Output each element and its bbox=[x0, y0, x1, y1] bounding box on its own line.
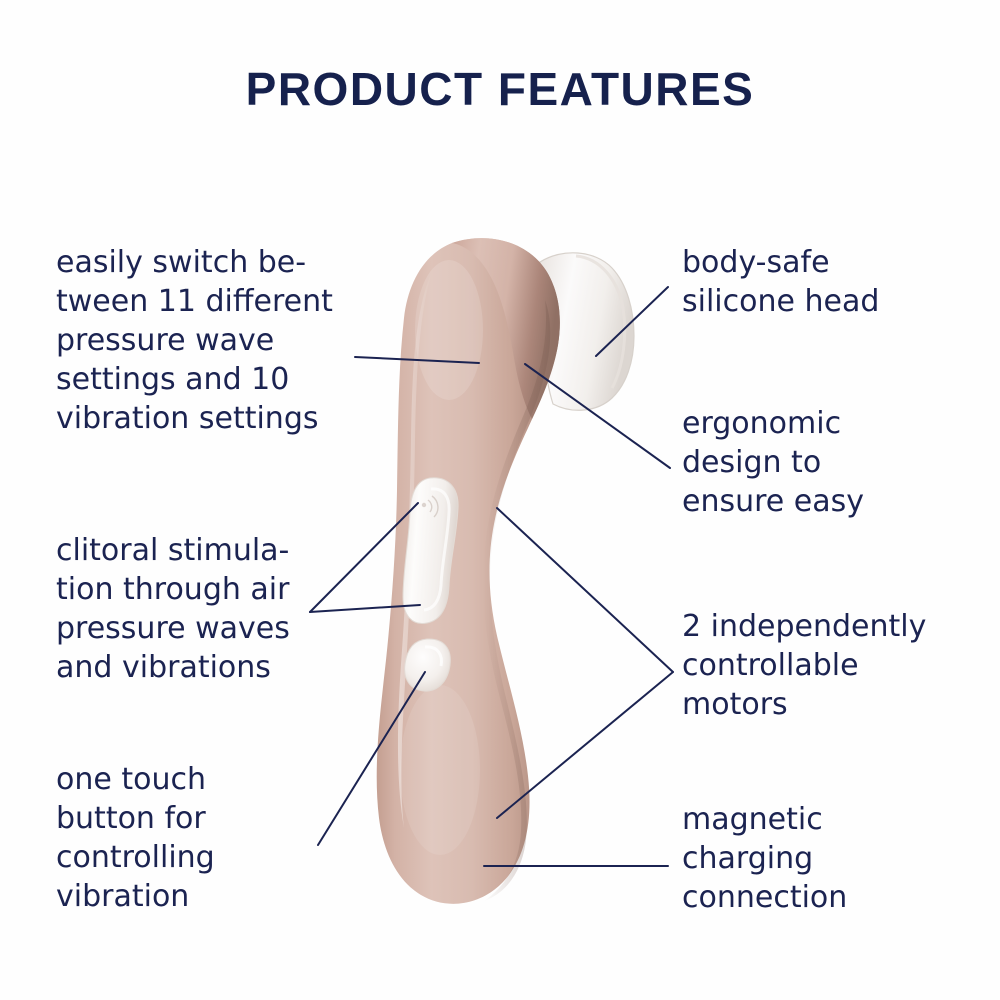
callout-one-touch-button: one touch button for controlling vibrati… bbox=[56, 760, 326, 916]
product-features-page: PRODUCT FEATURES bbox=[0, 0, 1000, 1000]
callout-settings: easily switch be- tween 11 different pre… bbox=[56, 243, 366, 438]
callout-silicone-head: body-safe silicone head bbox=[682, 243, 982, 321]
callout-motors: 2 independently controllable motors bbox=[682, 607, 982, 724]
callout-magnetic-charging: magnetic charging connection bbox=[682, 800, 982, 917]
callout-clitoral-stimulation: clitoral stimula- tion through air press… bbox=[56, 531, 356, 687]
callout-ergonomic-design: ergonomic design to ensure easy bbox=[682, 404, 982, 521]
